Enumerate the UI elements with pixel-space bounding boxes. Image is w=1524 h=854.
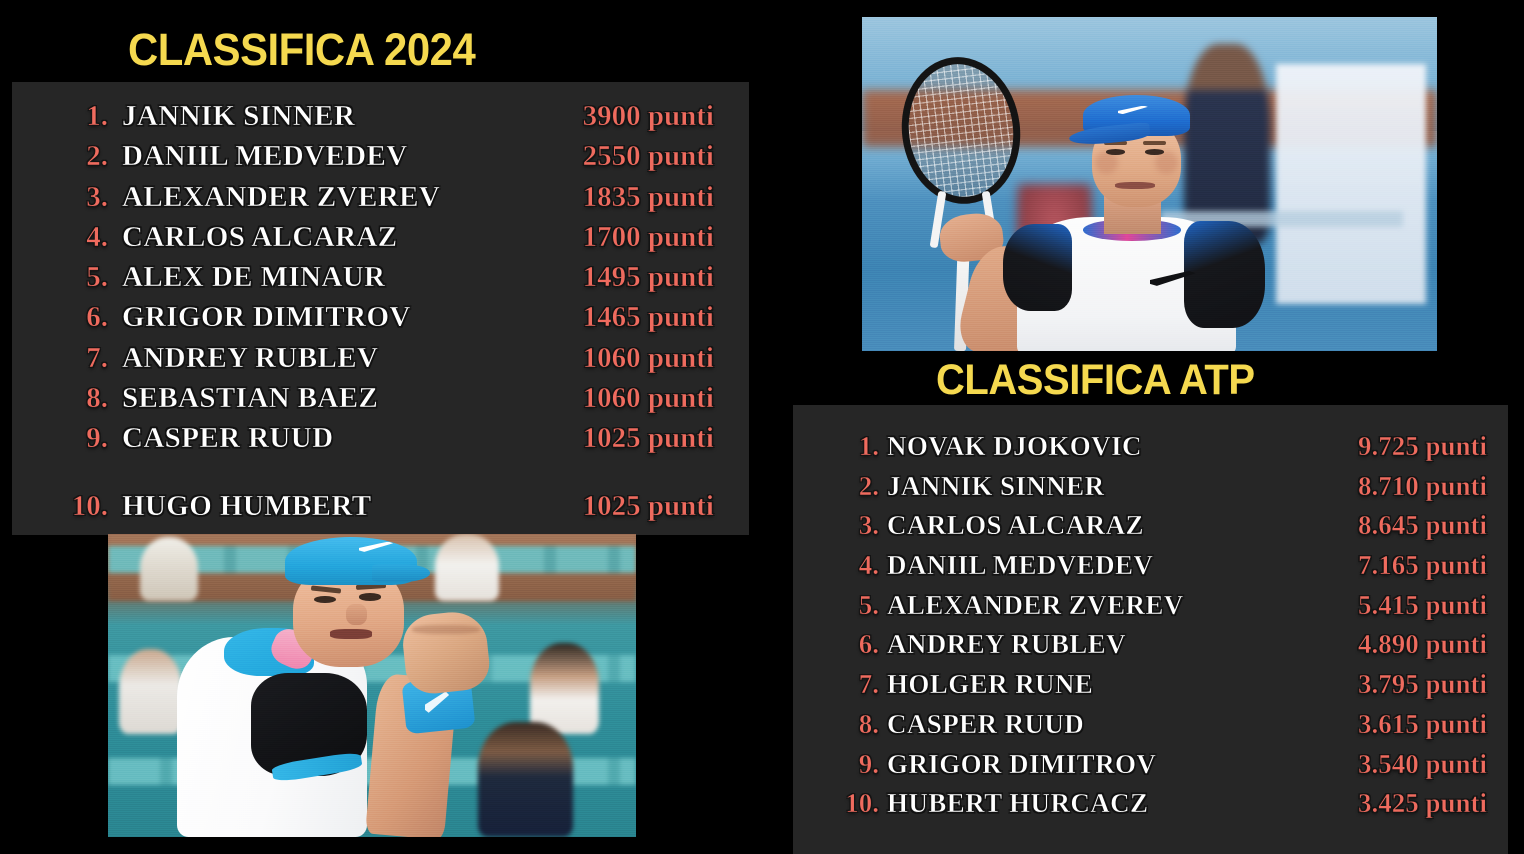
ranking-row: 7.HOLGER RUNE3.795 punti xyxy=(793,669,1508,709)
player-points: 1465 punti xyxy=(494,301,714,334)
player-name: CARLOS ALCARAZ xyxy=(122,221,494,254)
player-points: 1060 punti xyxy=(494,342,714,375)
ranking-row: 2.DANIIL MEDVEDEV2550 punti xyxy=(12,140,749,180)
ranking-row: 5.ALEX DE MINAUR1495 punti xyxy=(12,261,749,301)
player-name: HOLGER RUNE xyxy=(887,669,1277,700)
ranking-row: 6.GRIGOR DIMITROV1465 punti xyxy=(12,301,749,341)
player-name: ALEX DE MINAUR xyxy=(122,261,494,294)
player-points: 1060 punti xyxy=(494,382,714,415)
left-board-title: CLASSIFICA 2024 xyxy=(128,24,475,76)
player-name: GRIGOR DIMITROV xyxy=(122,301,494,334)
player-name: ANDREY RUBLEV xyxy=(122,342,494,375)
rank-position: 7. xyxy=(60,342,108,375)
photo-grain xyxy=(862,17,1437,351)
player-points: 3900 punti xyxy=(494,100,714,133)
rank-position: 1. xyxy=(60,100,108,133)
ranking-row: 7.ANDREY RUBLEV1060 punti xyxy=(12,342,749,382)
rank-position: 2. xyxy=(831,471,879,502)
rank-position: 7. xyxy=(831,669,879,700)
ranking-row: 8.SEBASTIAN BAEZ1060 punti xyxy=(12,382,749,422)
player-name: ALEXANDER ZVEREV xyxy=(887,590,1277,621)
player-name: JANNIK SINNER xyxy=(122,100,494,133)
ranking-row: 1.NOVAK DJOKOVIC9.725 punti xyxy=(793,431,1508,471)
player-name: SEBASTIAN BAEZ xyxy=(122,382,494,415)
rank-position: 1. xyxy=(831,431,879,462)
rank-position: 4. xyxy=(60,221,108,254)
rank-position: 8. xyxy=(831,709,879,740)
player-name: JANNIK SINNER xyxy=(887,471,1277,502)
ranking-row: 10.HUGO HUMBERT1025 punti xyxy=(12,490,749,530)
rank-position: 8. xyxy=(60,382,108,415)
rank-position: 10. xyxy=(60,490,108,523)
infographic-canvas: CLASSIFICA 2024 1.JANNIK SINNER3900 punt… xyxy=(0,0,1524,854)
player-points: 4.890 punti xyxy=(1277,629,1487,660)
ranking-row: 3.ALEXANDER ZVEREV1835 punti xyxy=(12,181,749,221)
player-points: 3.615 punti xyxy=(1277,709,1487,740)
rank-position: 3. xyxy=(831,510,879,541)
right-ranking-panel: 1.NOVAK DJOKOVIC9.725 punti2.JANNIK SINN… xyxy=(793,405,1508,854)
player-points: 3.540 punti xyxy=(1277,749,1487,780)
right-board-title: CLASSIFICA ATP xyxy=(936,356,1255,405)
rank-position: 2. xyxy=(60,140,108,173)
photo-grain xyxy=(108,534,636,837)
player-name: HUGO HUMBERT xyxy=(122,490,494,523)
player-points: 3.425 punti xyxy=(1277,788,1487,819)
ranking-row: 2.JANNIK SINNER8.710 punti xyxy=(793,471,1508,511)
player-points: 1495 punti xyxy=(494,261,714,294)
left-ranking-panel: 1.JANNIK SINNER3900 punti2.DANIIL MEDVED… xyxy=(12,82,749,535)
player-points: 9.725 punti xyxy=(1277,431,1487,462)
ranking-row: 8.CASPER RUUD3.615 punti xyxy=(793,709,1508,749)
ranking-row: 4.CARLOS ALCARAZ1700 punti xyxy=(12,221,749,261)
rank-position: 10. xyxy=(831,788,879,819)
player-points: 1025 punti xyxy=(494,490,714,523)
rank-position: 5. xyxy=(60,261,108,294)
ranking-row: 6.ANDREY RUBLEV4.890 punti xyxy=(793,629,1508,669)
rank-position: 6. xyxy=(60,301,108,334)
player-points: 1700 punti xyxy=(494,221,714,254)
player-name: DANIIL MEDVEDEV xyxy=(122,140,494,173)
player-points: 8.710 punti xyxy=(1277,471,1487,502)
player-name: CARLOS ALCARAZ xyxy=(887,510,1277,541)
rank-position: 6. xyxy=(831,629,879,660)
right-ranking-list: 1.NOVAK DJOKOVIC9.725 punti2.JANNIK SINN… xyxy=(793,405,1508,828)
rank-position: 9. xyxy=(831,749,879,780)
photo-player-racket xyxy=(862,17,1437,351)
photo-player-fistpump xyxy=(108,534,636,837)
player-name: DANIIL MEDVEDEV xyxy=(887,550,1277,581)
player-points: 3.795 punti xyxy=(1277,669,1487,700)
rank-position: 5. xyxy=(831,590,879,621)
rank-position: 3. xyxy=(60,181,108,214)
ranking-row: 9.GRIGOR DIMITROV3.540 punti xyxy=(793,749,1508,789)
player-points: 5.415 punti xyxy=(1277,590,1487,621)
player-name: ALEXANDER ZVEREV xyxy=(122,181,494,214)
ranking-row: 1.JANNIK SINNER3900 punti xyxy=(12,100,749,140)
player-points: 1025 punti xyxy=(494,422,714,455)
ranking-row: 4.DANIIL MEDVEDEV7.165 punti xyxy=(793,550,1508,590)
player-name: NOVAK DJOKOVIC xyxy=(887,431,1277,462)
rank-position: 4. xyxy=(831,550,879,581)
player-name: HUBERT HURCACZ xyxy=(887,788,1277,819)
ranking-row: 5.ALEXANDER ZVEREV5.415 punti xyxy=(793,590,1508,630)
player-points: 7.165 punti xyxy=(1277,550,1487,581)
ranking-row: 10.HUBERT HURCACZ3.425 punti xyxy=(793,788,1508,828)
player-points: 1835 punti xyxy=(494,181,714,214)
player-name: ANDREY RUBLEV xyxy=(887,629,1277,660)
player-points: 8.645 punti xyxy=(1277,510,1487,541)
player-name: GRIGOR DIMITROV xyxy=(887,749,1277,780)
ranking-row: 3.CARLOS ALCARAZ8.645 punti xyxy=(793,510,1508,550)
left-ranking-list: 1.JANNIK SINNER3900 punti2.DANIIL MEDVED… xyxy=(12,82,749,530)
player-points: 2550 punti xyxy=(494,140,714,173)
ranking-row: 9.CASPER RUUD1025 punti xyxy=(12,422,749,462)
player-name: CASPER RUUD xyxy=(887,709,1277,740)
player-name: CASPER RUUD xyxy=(122,422,494,455)
rank-position: 9. xyxy=(60,422,108,455)
